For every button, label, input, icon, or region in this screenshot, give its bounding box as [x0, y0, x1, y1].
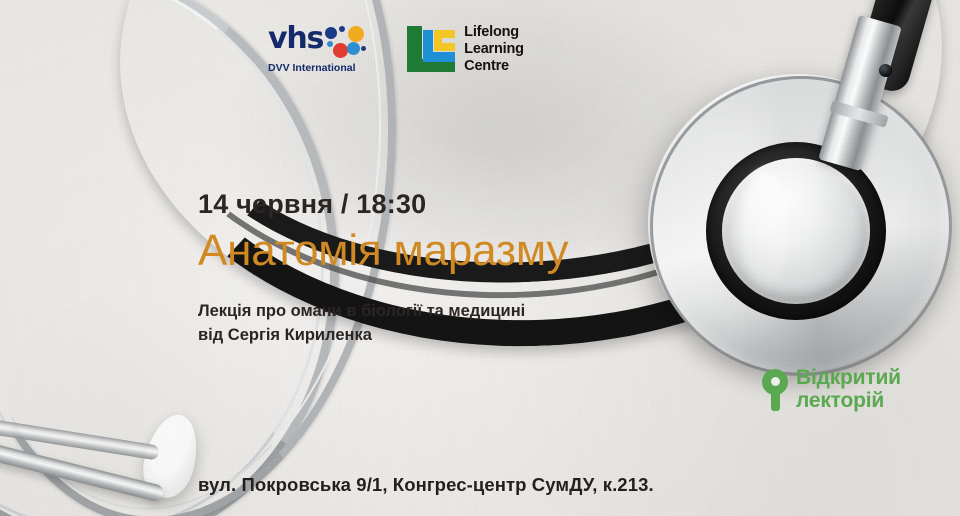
event-poster: vhs DVV International [0, 0, 960, 516]
event-title: Анатомія маразму [198, 228, 668, 275]
stethoscope-stem-screw-icon [879, 64, 892, 77]
open-lecture-hall-badge: Відкритий лекторій [762, 367, 901, 412]
vhs-subline: DVV International [268, 62, 356, 74]
llc-wordmark: Lifelong Learning Centre [464, 24, 524, 75]
event-address: вул. Покровська 9/1, Конгрес-центр СумДУ… [198, 474, 654, 496]
badge-line-2: лекторій [796, 389, 884, 412]
event-subtitle-line-2: від Сергія Кириленка [198, 326, 372, 344]
llc-line-3: Centre [464, 58, 509, 74]
vhs-wordmark: vhs [268, 25, 323, 54]
event-datetime: 14 червня / 18:30 [198, 190, 668, 220]
lifelong-learning-centre-logo: Lifelong Learning Centre [407, 24, 524, 75]
badge-label: Відкритий лекторій [796, 367, 901, 412]
event-subtitle: Лекція про омани в біології та медицині … [198, 300, 668, 347]
event-subtitle-line-1: Лекція про омани в біології та медицині [198, 302, 525, 320]
llc-line-2: Learning [464, 41, 524, 57]
vhs-dots-icon [325, 26, 369, 60]
badge-line-1: Відкритий [796, 366, 901, 389]
event-text-block: 14 червня / 18:30 Анатомія маразму Лекці… [198, 190, 668, 347]
llc-line-1: Lifelong [464, 24, 519, 40]
vhs-dvv-international-logo: vhs DVV International [268, 25, 369, 74]
stethoscope-diaphragm-reflection [742, 170, 788, 290]
keyhole-pin-icon [762, 369, 788, 411]
logo-bar: vhs DVV International [268, 24, 524, 75]
llc-mark-icon [407, 26, 455, 72]
